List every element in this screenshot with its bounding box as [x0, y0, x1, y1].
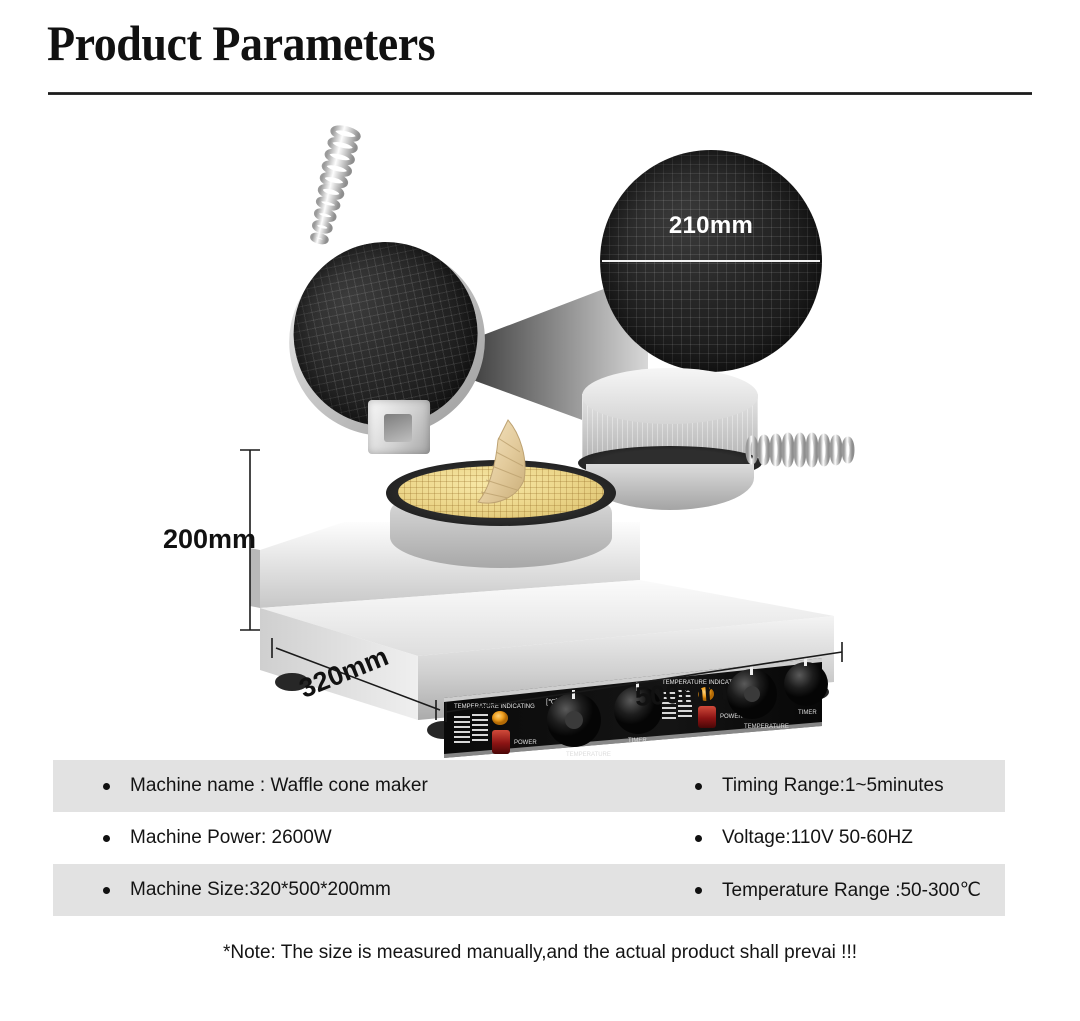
spec-value: Timing Range:1~5minutes — [722, 775, 944, 797]
bullet-icon — [103, 783, 110, 790]
spec-value: Voltage:110V 50-60HZ — [722, 827, 913, 849]
bullet-icon — [103, 835, 110, 842]
spec-cell-left: Machine Power: 2600W — [53, 812, 653, 864]
table-row: Machine name : Waffle cone maker Timing … — [53, 760, 1005, 812]
spec-cell-right: Temperature Range :50-300℃ — [653, 864, 1005, 916]
measurement-note: *Note: The size is measured manually,and… — [0, 942, 1080, 964]
table-row: Machine Power: 2600W Voltage:110V 50-60H… — [53, 812, 1005, 864]
page-title: Product Parameters — [47, 12, 435, 74]
dimension-label-height: 200mm — [163, 524, 256, 555]
spec-cell-right: Timing Range:1~5minutes — [653, 760, 1005, 812]
power-label: POWER — [514, 740, 537, 746]
specification-table: Machine name : Waffle cone maker Timing … — [53, 760, 1005, 916]
title-divider — [48, 92, 1032, 95]
spec-cell-right: Voltage:110V 50-60HZ — [653, 812, 1005, 864]
spec-value: Machine name : Waffle cone maker — [130, 775, 428, 797]
spec-value: Temperature Range :50-300℃ — [722, 879, 981, 902]
bullet-icon — [695, 887, 702, 894]
spec-cell-left: Machine Size:320*500*200mm — [53, 864, 653, 916]
dimension-lines — [0, 100, 1080, 740]
bullet-icon — [103, 887, 110, 894]
product-illustration: 210mm — [0, 100, 1080, 740]
bullet-icon — [695, 835, 702, 842]
spec-cell-left: Machine name : Waffle cone maker — [53, 760, 653, 812]
bullet-icon — [695, 783, 702, 790]
spec-value: Machine Size:320*500*200mm — [130, 879, 391, 901]
table-row: Machine Size:320*500*200mm Temperature R… — [53, 864, 1005, 916]
spec-value: Machine Power: 2600W — [130, 827, 332, 849]
dimension-label-width: 500mm — [634, 676, 729, 713]
temperature-knob-label: TEMPERATURE — [566, 752, 611, 758]
